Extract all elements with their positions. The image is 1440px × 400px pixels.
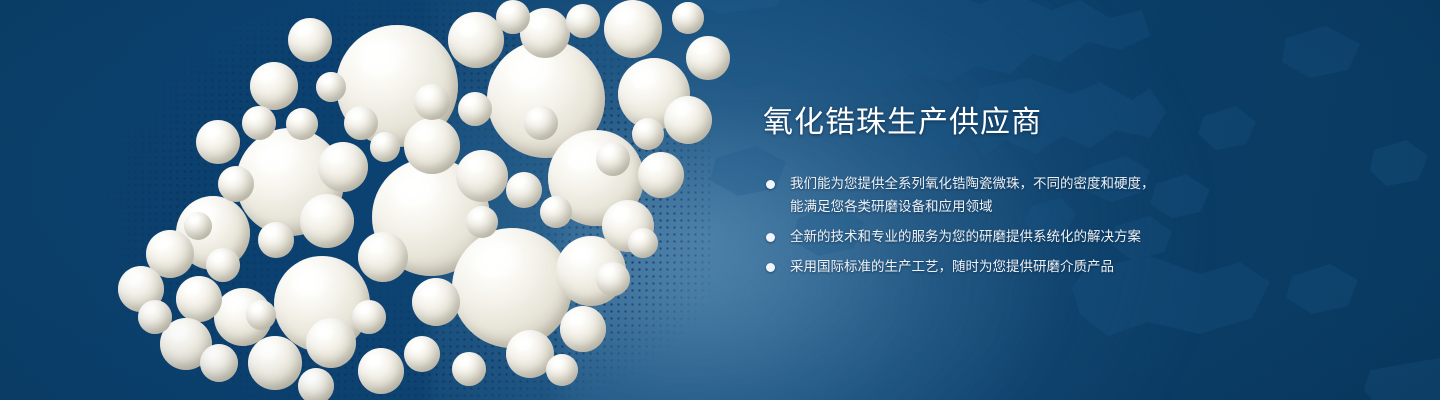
feature-text-line: 全新的技术和专业的服务为您的研磨提供系统化的解决方案	[790, 225, 1403, 248]
bullet-dot-icon	[766, 180, 775, 189]
hero-banner: 氧化锆珠生产供应商 我们能为您提供全系列氧化锆陶瓷微珠，不同的密度和硬度， 能满…	[0, 0, 1440, 400]
list-item: 我们能为您提供全系列氧化锆陶瓷微珠，不同的密度和硬度， 能满足您各类研磨设备和应…	[763, 172, 1403, 218]
feature-text-line: 采用国际标准的生产工艺，随时为您提供研磨介质产品	[790, 255, 1403, 278]
list-item: 采用国际标准的生产工艺，随时为您提供研磨介质产品	[763, 255, 1403, 278]
list-item: 全新的技术和专业的服务为您的研磨提供系统化的解决方案	[763, 225, 1403, 248]
feature-text-line: 能满足您各类研磨设备和应用领域	[790, 195, 1403, 218]
bullet-dot-icon	[766, 263, 775, 272]
feature-list: 我们能为您提供全系列氧化锆陶瓷微珠，不同的密度和硬度， 能满足您各类研磨设备和应…	[763, 172, 1403, 279]
bullet-dot-icon	[766, 233, 775, 242]
banner-headline: 氧化锆珠生产供应商	[763, 104, 1403, 142]
banner-content: 氧化锆珠生产供应商 我们能为您提供全系列氧化锆陶瓷微珠，不同的密度和硬度， 能满…	[763, 104, 1403, 278]
feature-text-line: 我们能为您提供全系列氧化锆陶瓷微珠，不同的密度和硬度，	[790, 172, 1403, 195]
